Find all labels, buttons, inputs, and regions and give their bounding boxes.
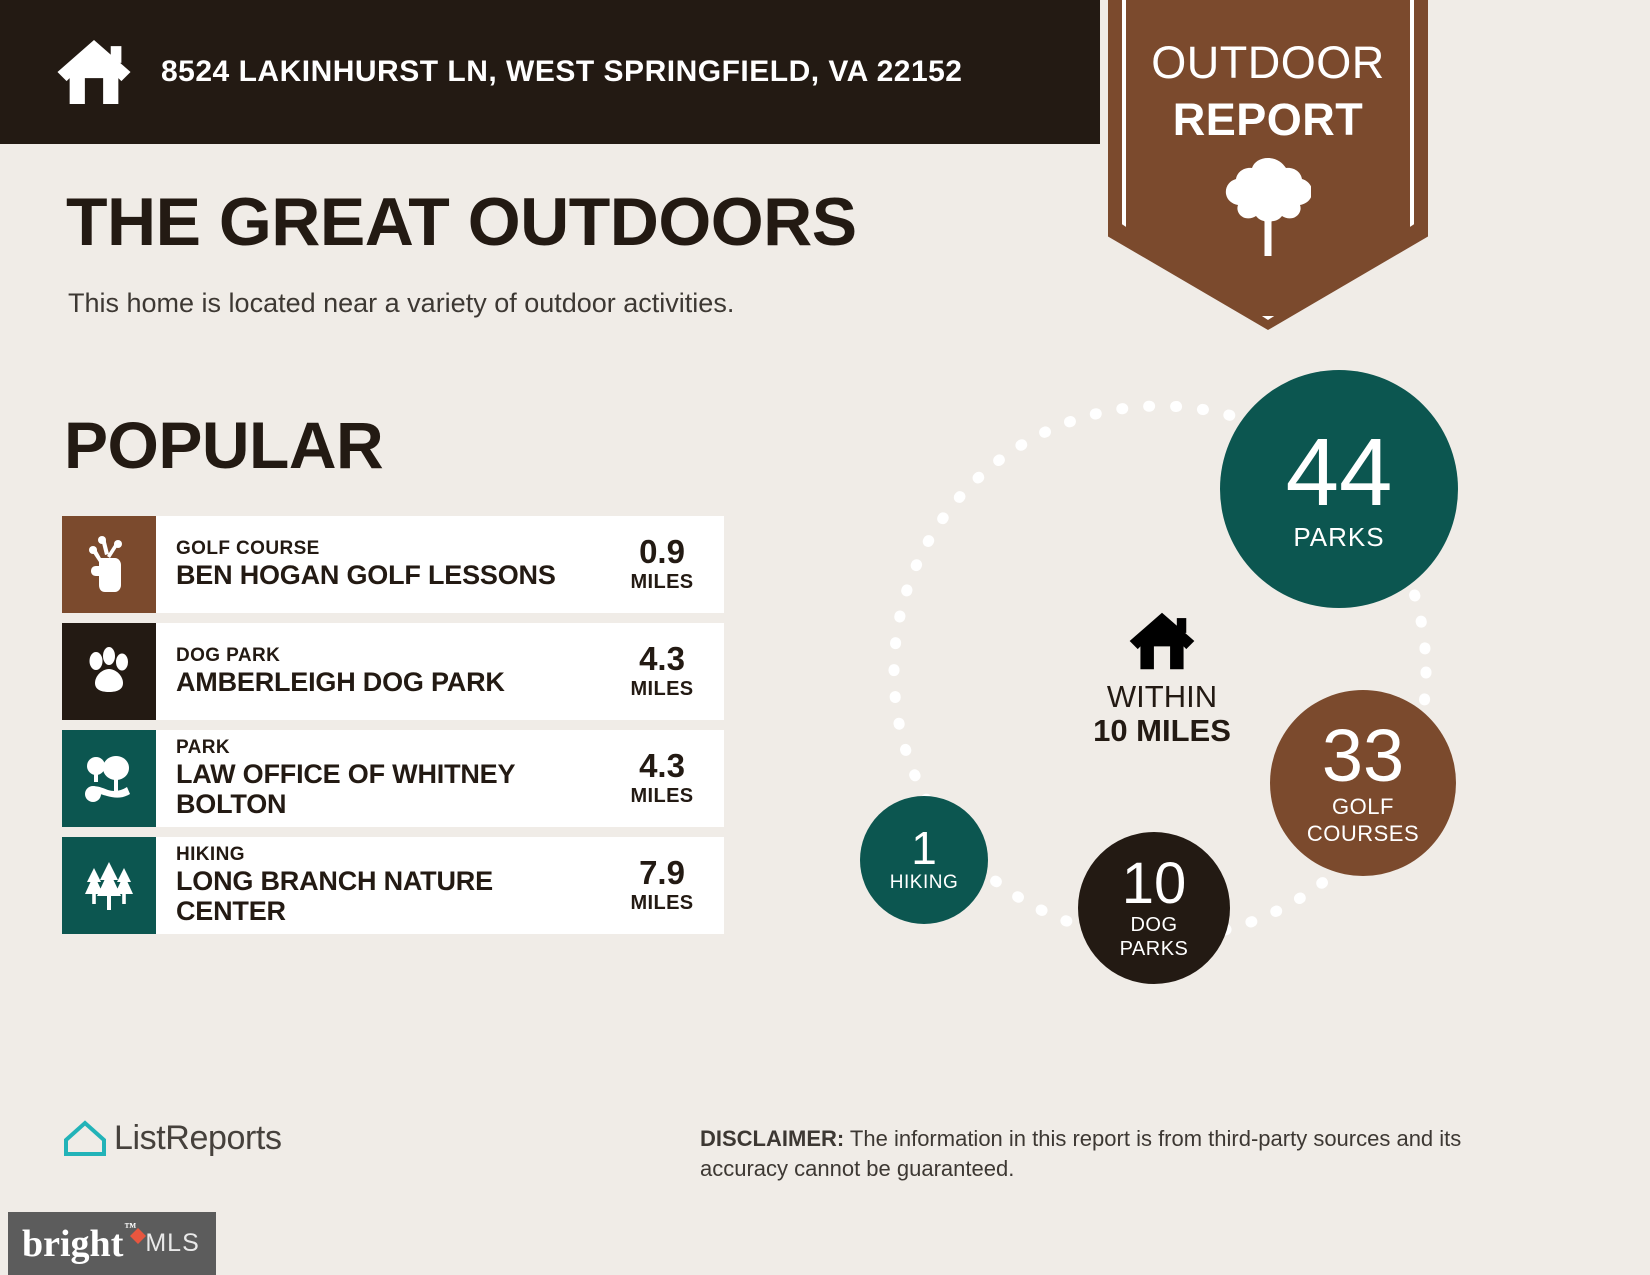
disclaimer: DISCLAIMER: The information in this repo… [700,1124,1510,1185]
listreports-logo[interactable]: ListReports [62,1118,282,1158]
distance-value: 7.9 [639,856,685,889]
bubble-golf-count: 33 [1322,721,1404,791]
bubble-hiking-label: HIKING [890,873,958,893]
park-trees-icon [82,752,136,806]
section-heading-popular: POPULAR [64,412,383,478]
bubble-dog-label-line2: PARKS [1120,939,1189,960]
home-icon [1127,610,1197,672]
list-item-distance: 4.3 MILES [606,730,724,827]
badge-line-1: OUTDOOR [1108,40,1428,85]
bubble-dog-label-line1: DOG [1130,915,1177,936]
popular-places-list: GOLF COURSE BEN HOGAN GOLF LESSONS 0.9 M… [62,516,724,944]
list-item[interactable]: PARK LAW OFFICE OF WHITNEY BOLTON 4.3 MI… [62,730,724,827]
property-address: 8524 LAKINHURST LN, WEST SPRINGFIELD, VA… [161,55,963,89]
list-item-category: PARK [176,737,606,759]
home-icon [55,37,133,107]
bubble-parks-count: 44 [1286,427,1393,518]
bubble-parks[interactable]: 44 PARKS [1220,370,1458,608]
diagram-center-line1: WITHIN [1012,680,1312,714]
list-item-category: HIKING [176,844,606,866]
list-item-name: LAW OFFICE OF WHITNEY BOLTON [176,759,606,819]
list-item-text: PARK LAW OFFICE OF WHITNEY BOLTON [156,730,606,827]
distance-value: 4.3 [639,749,685,782]
list-item-name: BEN HOGAN GOLF LESSONS [176,560,606,590]
distance-unit: MILES [630,785,693,808]
list-item-name: LONG BRANCH NATURE CENTER [176,866,606,926]
bubble-golf-label-line2: COURSES [1307,822,1419,845]
list-item-category: GOLF COURSE [176,538,606,560]
distance-unit: MILES [630,892,693,915]
pine-trees-icon [81,860,137,912]
listreports-wordmark: ListReports [114,1119,282,1158]
list-item[interactable]: HIKING LONG BRANCH NATURE CENTER 7.9 MIL… [62,837,724,934]
bubble-hiking[interactable]: 1 HIKING [860,796,988,924]
bubble-parks-label: PARKS [1293,524,1384,551]
distance-unit: MILES [630,571,693,594]
list-item-distance: 7.9 MILES [606,837,724,934]
paw-print-icon [83,646,135,698]
golf-bag-icon [85,536,133,594]
outdoor-report-badge: OUTDOOR REPORT [1108,0,1428,330]
list-item-icon-tile [62,516,156,613]
list-item-icon-tile [62,837,156,934]
bright-text: bright [22,1223,123,1265]
bright-wordmark: bright ™ [22,1222,123,1266]
tree-icon [1225,154,1311,258]
list-item-text: DOG PARK AMBERLEIGH DOG PARK [156,623,606,720]
listreports-house-icon [62,1118,108,1158]
list-item-text: HIKING LONG BRANCH NATURE CENTER [156,837,606,934]
page-title: THE GREAT OUTDOORS [66,188,857,256]
diagram-center-line2: 10 MILES [1012,714,1312,748]
page-subtitle: This home is located near a variety of o… [68,288,734,319]
badge-line-2: REPORT [1108,97,1428,142]
disclaimer-label: DISCLAIMER: [700,1126,844,1151]
list-item[interactable]: GOLF COURSE BEN HOGAN GOLF LESSONS 0.9 M… [62,516,724,613]
list-item-name: AMBERLEIGH DOG PARK [176,667,606,697]
bright-mls-text: MLS [145,1229,199,1258]
header-bar: 8524 LAKINHURST LN, WEST SPRINGFIELD, VA… [0,0,1100,144]
list-item-text: GOLF COURSE BEN HOGAN GOLF LESSONS [156,516,606,613]
list-item-category: DOG PARK [176,645,606,667]
amenities-bubble-diagram: 44 PARKS 33 GOLF COURSES 10 DOG PARKS 1 … [820,360,1520,1060]
distance-value: 0.9 [639,535,685,568]
distance-unit: MILES [630,678,693,701]
distance-value: 4.3 [639,642,685,675]
diagram-center: WITHIN 10 MILES [1012,610,1312,748]
list-item[interactable]: DOG PARK AMBERLEIGH DOG PARK 4.3 MILES [62,623,724,720]
bubble-golf-label-line1: GOLF [1332,795,1394,818]
bright-mls-watermark: bright ™ MLS [8,1212,216,1275]
list-item-icon-tile [62,730,156,827]
list-item-icon-tile [62,623,156,720]
bubble-dog-count: 10 [1122,856,1187,911]
list-item-distance: 4.3 MILES [606,623,724,720]
bubble-hiking-count: 1 [911,827,937,871]
list-item-distance: 0.9 MILES [606,516,724,613]
bubble-dog-parks[interactable]: 10 DOG PARKS [1078,832,1230,984]
